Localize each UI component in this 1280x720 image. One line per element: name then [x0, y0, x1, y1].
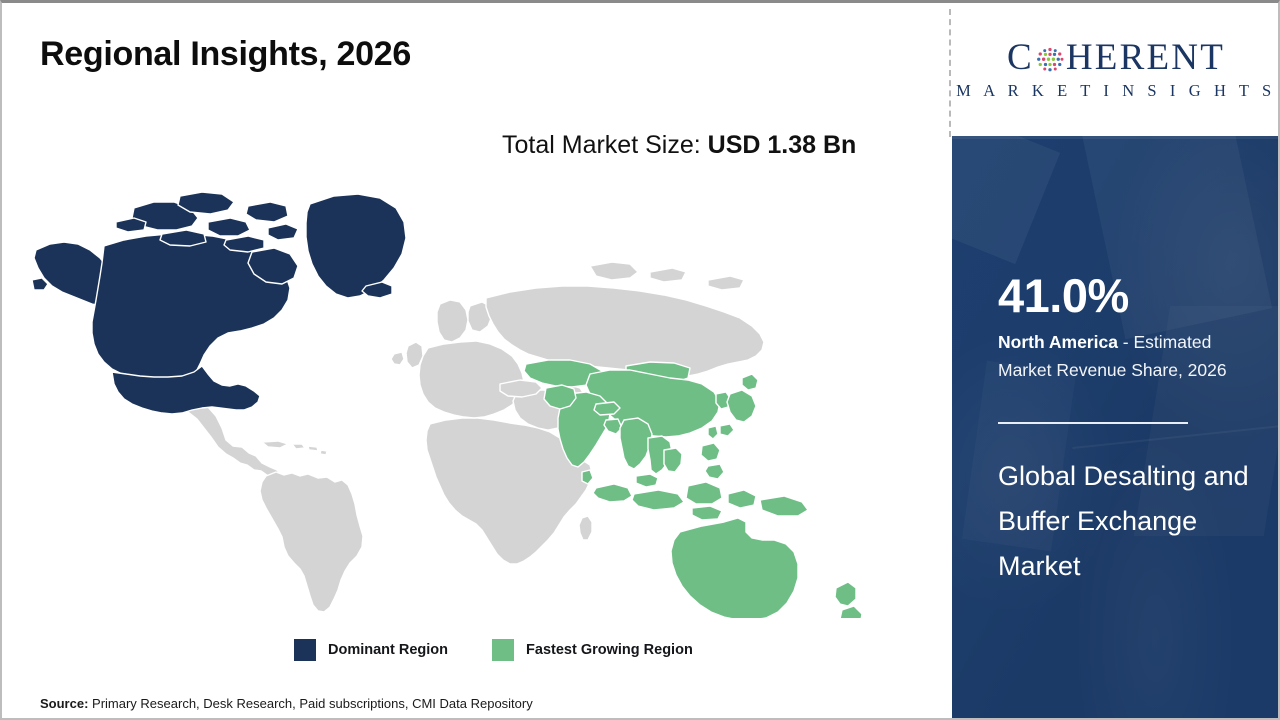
world-map-svg	[30, 188, 910, 618]
market-size-label: Total Market Size:	[502, 131, 708, 159]
infographic-page: Regional Insights, 2026 Total Market Siz…	[0, 0, 1280, 720]
dotted-globe-icon	[1035, 45, 1065, 75]
legend-label-dominant: Dominant Region	[328, 642, 448, 658]
panel-texture	[952, 136, 1060, 264]
page-title: Regional Insights, 2026	[40, 35, 411, 74]
source-note: Source: Primary Research, Desk Research,…	[40, 696, 533, 711]
logo-wordmark-bottom: M A R K E T I N S I G H T S	[956, 83, 1276, 100]
map-legend: Dominant Region Fastest Growing Region	[294, 639, 693, 661]
vertical-dashed-divider	[949, 9, 951, 137]
market-title: Global Desalting and Buffer Exchange Mar…	[998, 454, 1256, 588]
stat-divider-rule	[998, 422, 1188, 424]
map-region-north-america	[32, 192, 406, 414]
market-size-value: USD 1.38 Bn	[708, 131, 857, 159]
square-swatch-icon	[492, 639, 514, 661]
left-content-panel: Regional Insights, 2026 Total Market Siz…	[2, 3, 948, 720]
source-label: Source:	[40, 696, 88, 711]
total-market-size: Total Market Size: USD 1.38 Bn	[502, 127, 898, 164]
legend-item-fastest-growing: Fastest Growing Region	[492, 639, 693, 661]
panel-texture	[952, 136, 1280, 139]
logo-wordmark-top: C	[1007, 39, 1225, 76]
panel-texture	[1072, 425, 1280, 449]
legend-label-fastest-growing: Fastest Growing Region	[526, 642, 693, 658]
right-sidebar: C	[952, 3, 1280, 720]
legend-item-dominant: Dominant Region	[294, 639, 448, 661]
logo-letters-herent: HERENT	[1066, 39, 1225, 76]
logo-letter-c: C	[1007, 39, 1034, 76]
source-text: Primary Research, Desk Research, Paid su…	[88, 696, 532, 711]
square-swatch-icon	[294, 639, 316, 661]
stat-region-name: North America	[998, 332, 1118, 352]
brand-logo: C	[952, 3, 1280, 136]
stat-panel: 41.0% North America - Estimated Market R…	[952, 136, 1280, 720]
stat-description: North America - Estimated Market Revenue…	[998, 328, 1266, 385]
world-map	[30, 188, 910, 618]
stat-percentage: 41.0%	[998, 272, 1129, 319]
